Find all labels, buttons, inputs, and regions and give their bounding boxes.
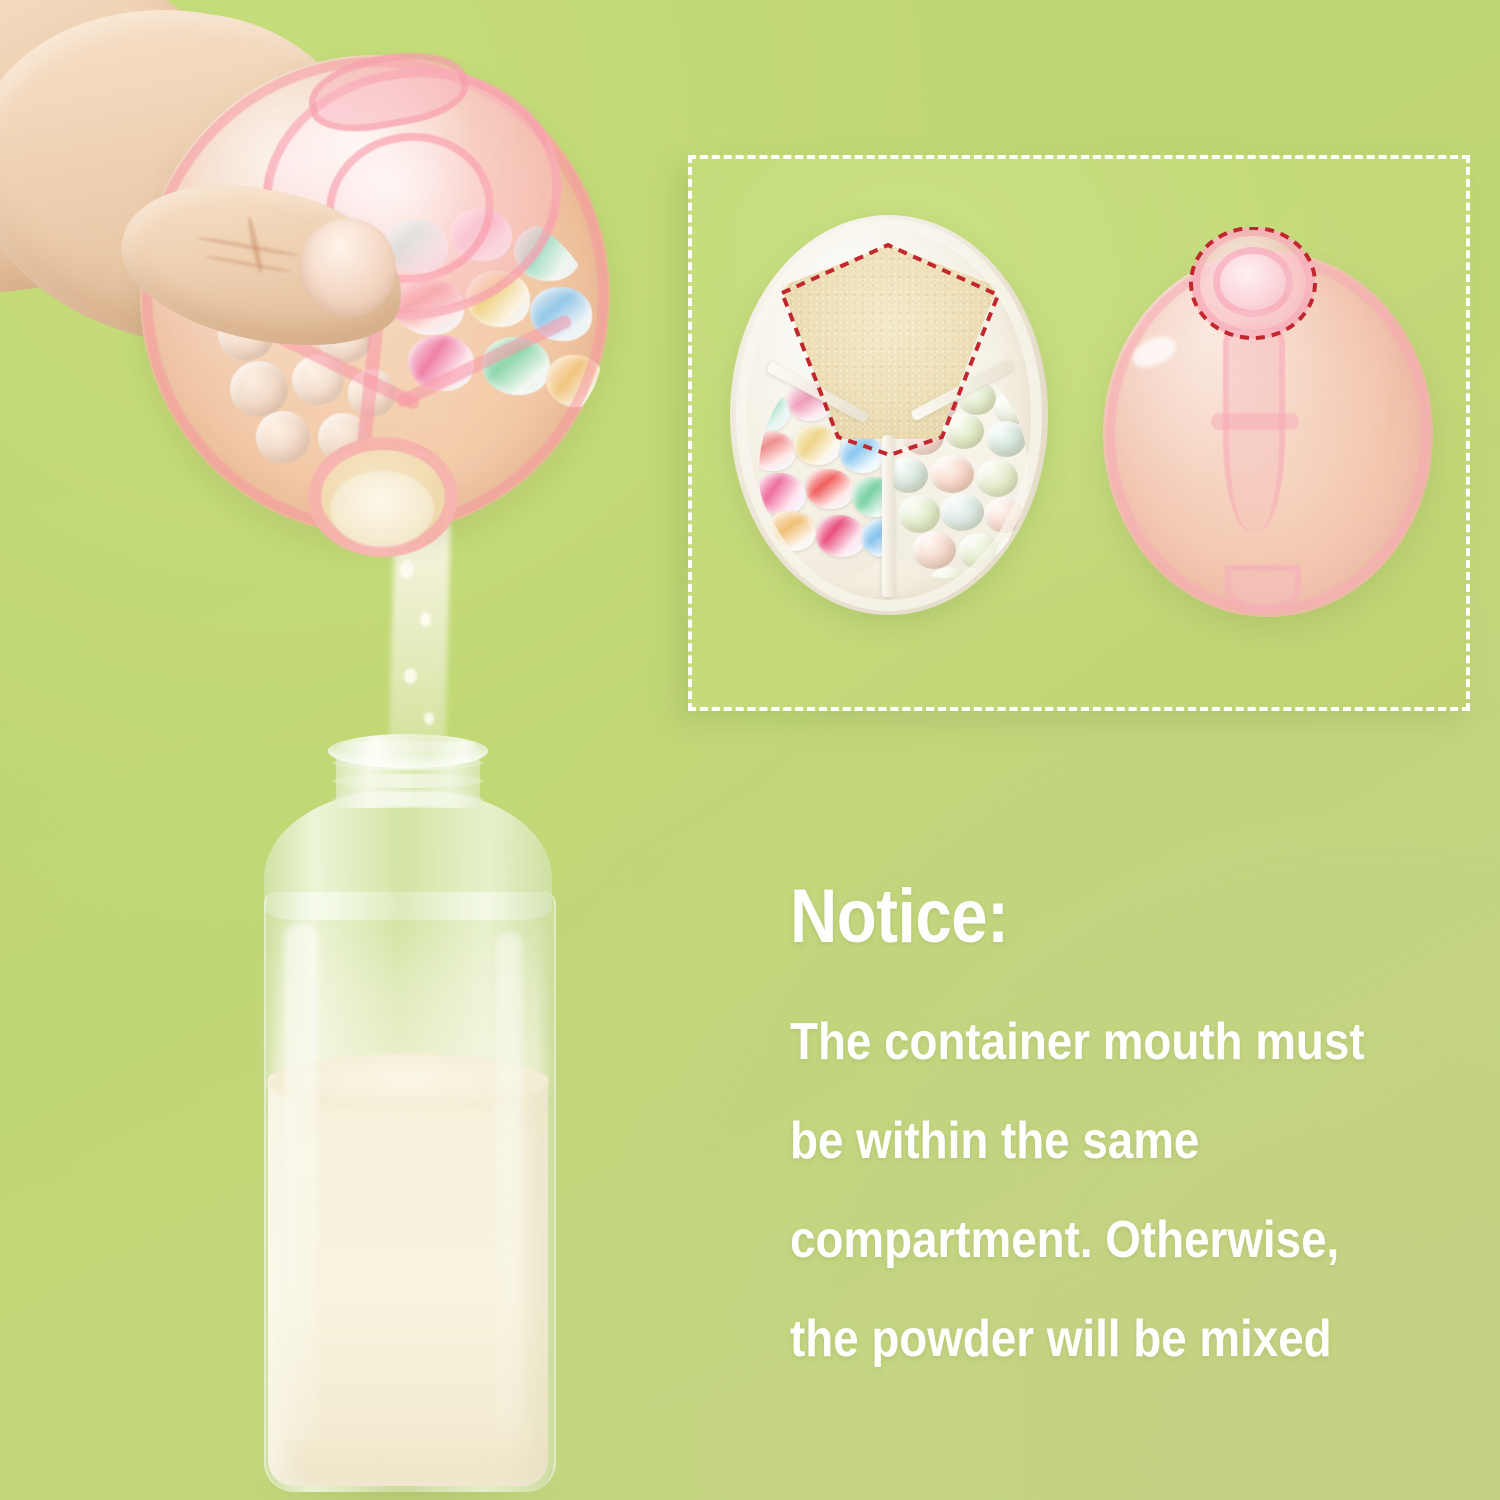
spout-powder [330, 471, 434, 547]
notice-line-1: The container mouth must [790, 993, 1380, 1092]
notice-body: The container mouth must be within the s… [790, 993, 1460, 1389]
glass-baby-bottle [258, 742, 558, 1500]
bottle-highlight-right [496, 932, 522, 1432]
notice-line-2: be within the same [790, 1092, 1380, 1191]
hand-pouring-scene [0, 0, 700, 820]
product-infographic: Notice: The container mouth must be with… [0, 0, 1500, 1500]
notice-line-3: compartment. Otherwise, [790, 1191, 1380, 1290]
notice-line-4: the powder will be mixed [790, 1290, 1380, 1389]
notice-block: Notice: The container mouth must be with… [790, 875, 1460, 1389]
dispenser-spout [308, 437, 458, 567]
notice-title: Notice: [790, 875, 1366, 959]
bottle-highlight-left [284, 922, 318, 1442]
inset-dashed-border [688, 155, 1470, 711]
inset-panel [688, 155, 1470, 711]
